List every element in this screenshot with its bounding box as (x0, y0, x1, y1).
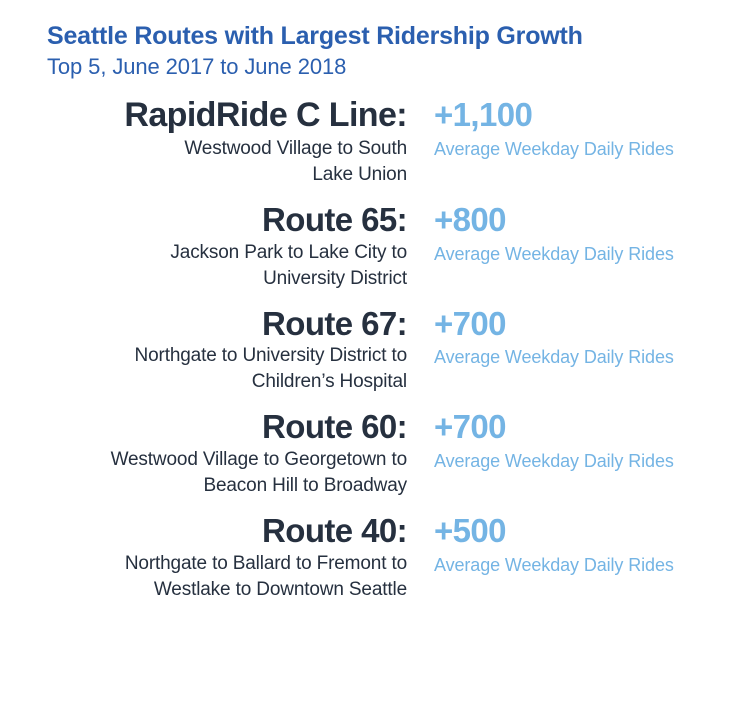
list-item: RapidRide C Line: Westwood Village to So… (0, 97, 750, 188)
route-name: Route 67: (0, 306, 407, 342)
route-description-line: Children’s Hospital (0, 369, 407, 395)
route-description-line: Northgate to University District to (0, 343, 407, 369)
route-value-group: +700 Average Weekday Daily Rides (407, 306, 750, 370)
route-label-group: RapidRide C Line: Westwood Village to So… (0, 97, 407, 188)
route-name: Route 65: (0, 202, 407, 238)
route-description-line: Northgate to Ballard to Fremont to (0, 551, 407, 577)
route-description: Westwood Village to Georgetown to Beacon… (0, 447, 407, 499)
route-label-group: Route 60: Westwood Village to Georgetown… (0, 409, 407, 499)
page-title: Seattle Routes with Largest Ridership Gr… (47, 22, 750, 52)
route-growth-value: +1,100 (434, 97, 750, 133)
route-description: Northgate to University District to Chil… (0, 343, 407, 395)
route-value-group: +500 Average Weekday Daily Rides (407, 513, 750, 577)
route-description: Westwood Village to South Lake Union (0, 136, 407, 188)
route-name: RapidRide C Line: (0, 97, 407, 134)
route-growth-value: +500 (434, 513, 750, 549)
route-description-line: Jackson Park to Lake City to (0, 240, 407, 266)
list-item: Route 40: Northgate to Ballard to Fremon… (0, 513, 750, 603)
route-growth-value: +700 (434, 306, 750, 342)
route-name: Route 40: (0, 513, 407, 549)
infographic-root: Seattle Routes with Largest Ridership Gr… (0, 0, 750, 708)
route-growth-value: +700 (434, 409, 750, 445)
route-value-caption: Average Weekday Daily Rides (434, 449, 750, 474)
route-list: RapidRide C Line: Westwood Village to So… (0, 97, 750, 602)
route-value-caption: Average Weekday Daily Rides (434, 553, 750, 578)
route-label-group: Route 65: Jackson Park to Lake City to U… (0, 202, 407, 292)
route-description: Jackson Park to Lake City to University … (0, 240, 407, 292)
route-value-group: +700 Average Weekday Daily Rides (407, 409, 750, 473)
route-description-line: Westlake to Downtown Seattle (0, 577, 407, 603)
route-label-group: Route 40: Northgate to Ballard to Fremon… (0, 513, 407, 603)
list-item: Route 65: Jackson Park to Lake City to U… (0, 202, 750, 292)
route-description: Northgate to Ballard to Fremont to Westl… (0, 551, 407, 603)
route-value-group: +800 Average Weekday Daily Rides (407, 202, 750, 266)
route-name: Route 60: (0, 409, 407, 445)
route-description-line: Lake Union (0, 162, 407, 188)
page-subtitle: Top 5, June 2017 to June 2018 (47, 54, 750, 81)
route-description-line: Westwood Village to South (0, 136, 407, 162)
route-value-group: +1,100 Average Weekday Daily Rides (407, 97, 750, 161)
route-description-line: University District (0, 266, 407, 292)
route-value-caption: Average Weekday Daily Rides (434, 137, 750, 162)
list-item: Route 67: Northgate to University Distri… (0, 306, 750, 396)
route-growth-value: +800 (434, 202, 750, 238)
route-description-line: Beacon Hill to Broadway (0, 473, 407, 499)
route-description-line: Westwood Village to Georgetown to (0, 447, 407, 473)
header: Seattle Routes with Largest Ridership Gr… (0, 0, 750, 80)
route-value-caption: Average Weekday Daily Rides (434, 242, 750, 267)
route-value-caption: Average Weekday Daily Rides (434, 345, 750, 370)
route-label-group: Route 67: Northgate to University Distri… (0, 306, 407, 396)
list-item: Route 60: Westwood Village to Georgetown… (0, 409, 750, 499)
